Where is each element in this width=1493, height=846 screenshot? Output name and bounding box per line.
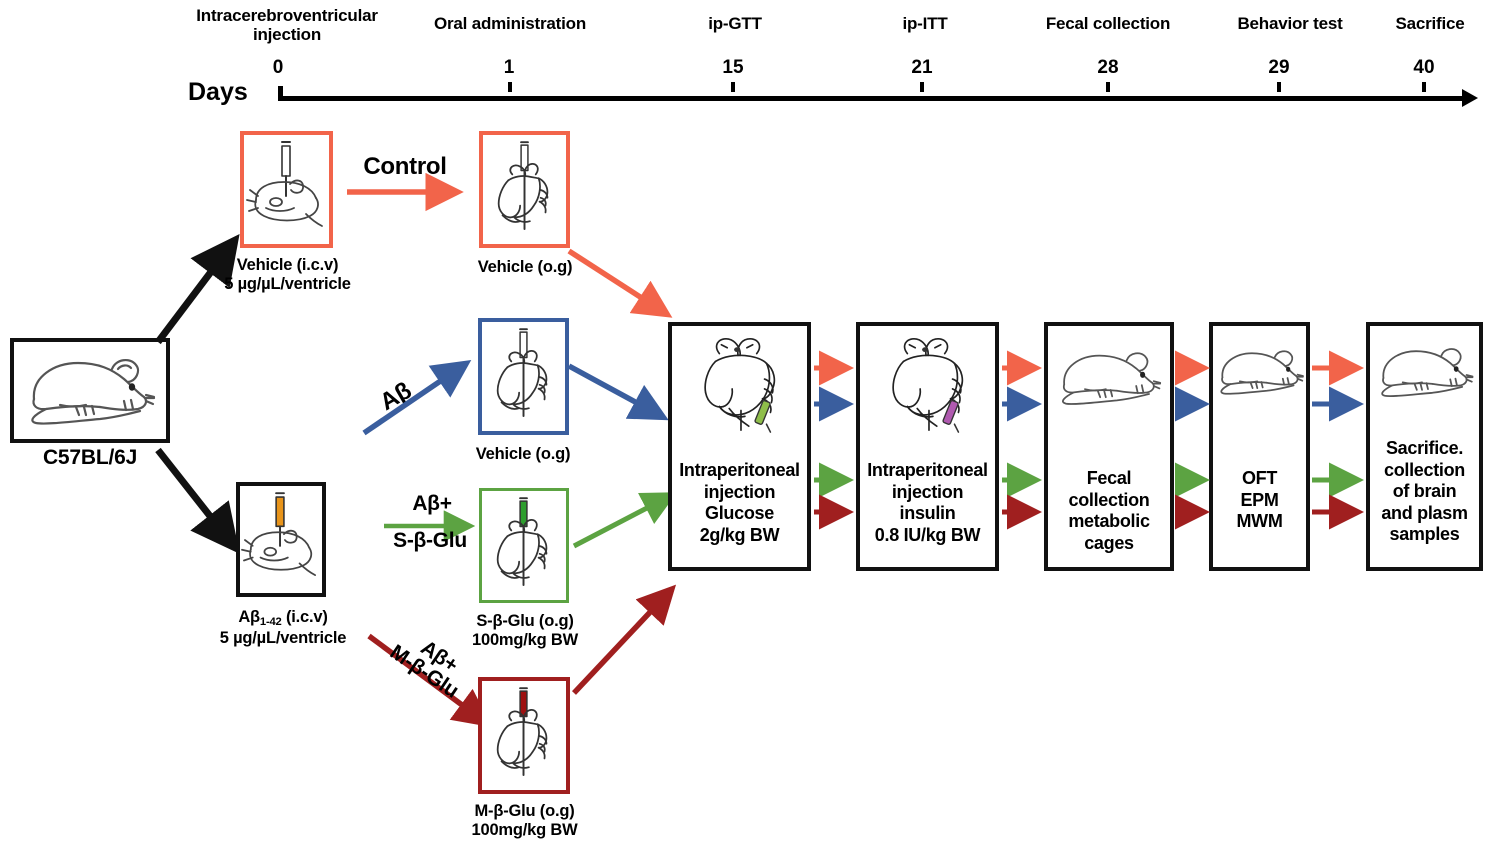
procedure-line: of brain [1370, 481, 1479, 503]
timeline-tick-4 [1106, 82, 1110, 92]
timeline: Intracerebroventricular injection Oral a… [0, 0, 1493, 120]
og-m-beta-glu-caption-line2: 100mg/kg BW [472, 821, 578, 839]
timeline-tick-1 [508, 82, 512, 92]
arrow-control-to-procedures [565, 245, 680, 325]
procedure-line: collection [1048, 490, 1170, 512]
icv-abeta-caption-main: Aβ1-42 (i.c.v) [238, 608, 327, 626]
procedure-line: metabolic [1048, 511, 1170, 533]
connector-arrows-gtt-to-itt [812, 360, 858, 560]
og-m-beta-glu-caption-line1: M-β-Glu (o.g) [474, 802, 574, 820]
arrow-abeta-to-procedures [565, 360, 675, 430]
procedure-box-ip-gtt: Intraperitoneal injection Glucose 2g/kg … [668, 322, 811, 571]
source-mouse-box [10, 338, 170, 443]
procedure-line: collection [1370, 460, 1479, 482]
procedure-line: cages [1048, 533, 1170, 555]
arrow-m-beta-glu-to-procedures [570, 585, 685, 700]
arrow-control [345, 180, 470, 204]
procedure-line: MWM [1213, 511, 1306, 533]
icv-vehicle-box [240, 131, 333, 248]
connector-arrows-itt-to-fecal [1000, 360, 1046, 560]
mouse-icon [1373, 340, 1477, 404]
timeline-day-5: 29 [1259, 57, 1299, 79]
timeline-tick-5 [1277, 82, 1281, 92]
timeline-tick-6 [1422, 82, 1426, 92]
timeline-event-label-1: Oral administration [400, 14, 620, 33]
timeline-tick-3 [920, 82, 924, 92]
timeline-day-0: 0 [258, 57, 298, 79]
procedure-text-ip-gtt: Intraperitoneal injection Glucose 2g/kg … [672, 460, 807, 546]
timeline-event-label-6: Sacrifice [1370, 14, 1490, 33]
timeline-event-label-2: ip-GTT [660, 14, 810, 33]
s-beta-glu-arrow-label-top: Aβ+ [388, 492, 476, 515]
control-arrow-label: Control [345, 155, 465, 179]
procedure-text-fecal-collection: Fecal collection metabolic cages [1048, 468, 1170, 554]
og-m-beta-glu-caption: M-β-Glu (o.g) 100mg/kg BW [452, 802, 597, 840]
procedure-line: injection [672, 482, 807, 504]
connector-arrows-fecal-to-behavior [1174, 360, 1212, 560]
procedure-line: EPM [1213, 490, 1306, 512]
timeline-event-label-4: Fecal collection [1008, 14, 1208, 33]
source-mouse-label: C57BL/6J [10, 448, 170, 467]
timeline-day-6: 40 [1404, 57, 1444, 79]
arrow-abeta [360, 355, 480, 440]
procedure-line: 2g/kg BW [672, 525, 807, 547]
og-vehicle-control-box [479, 131, 570, 248]
procedure-text-ip-itt: Intraperitoneal injection insulin 0.8 IU… [860, 460, 995, 546]
procedure-line: Glucose [672, 503, 807, 525]
procedure-line: and plasm [1370, 503, 1479, 525]
connector-arrows-behavior-to-sacrifice [1310, 360, 1368, 560]
timeline-tick-2 [731, 82, 735, 92]
timeline-axis-line [278, 96, 1464, 101]
icv-vehicle-caption: Vehicle (i.c.v) 5 µg/µL/ventricle [200, 256, 375, 294]
procedure-line: Fecal [1048, 468, 1170, 490]
timeline-event-label-0: Intracerebroventricular injection [172, 6, 402, 44]
icv-abeta-caption-line2: 5 µg/µL/ventricle [220, 629, 347, 647]
mouse-icon [1053, 342, 1165, 414]
timeline-event-label-3: ip-ITT [855, 14, 995, 33]
hand-holding-mouse-gavage-icon [484, 684, 564, 788]
procedure-box-fecal-collection: Fecal collection metabolic cages [1044, 322, 1174, 571]
procedure-line: Intraperitoneal [672, 460, 807, 482]
timeline-day-1: 1 [489, 57, 529, 79]
icv-abeta-subscript: 1-42 [260, 616, 282, 628]
procedure-line: injection [860, 482, 995, 504]
mouse-icon [1213, 342, 1307, 402]
procedure-text-behavior-test: OFT EPM MWM [1213, 468, 1306, 533]
og-vehicle-abeta-caption: Vehicle (o.g) [462, 445, 584, 464]
hand-holding-mouse-gavage-icon [484, 495, 564, 597]
hand-holding-mouse-gavage-icon [485, 138, 565, 242]
timeline-day-4: 28 [1088, 57, 1128, 79]
figure-canvas: Intracerebroventricular injection Oral a… [0, 0, 1493, 846]
procedure-line: Sacrifice. [1370, 438, 1479, 460]
og-vehicle-abeta-box [478, 318, 569, 435]
procedure-box-sacrifice: Sacrifice. collection of brain and plasm… [1366, 322, 1483, 571]
procedure-line: 0.8 IU/kg BW [860, 525, 995, 547]
timeline-axis-arrowhead [1462, 89, 1478, 107]
og-s-beta-glu-caption-line1: S-β-Glu (o.g) [476, 612, 573, 630]
procedure-line: Intraperitoneal [860, 460, 995, 482]
mouse-icon [20, 349, 160, 433]
timeline-day-2: 15 [713, 57, 753, 79]
procedure-line: samples [1370, 524, 1479, 546]
og-s-beta-glu-box [479, 488, 569, 603]
og-m-beta-glu-box [478, 677, 570, 794]
s-beta-glu-arrow-label-bottom: S-β-Glu [380, 529, 480, 552]
timeline-day-3: 21 [902, 57, 942, 79]
procedure-line: OFT [1213, 468, 1306, 490]
procedure-box-behavior-test: OFT EPM MWM [1209, 322, 1310, 571]
mouse-head-injection-icon [241, 489, 321, 591]
timeline-event-label-5: Behavior test [1200, 14, 1380, 33]
icv-abeta-caption: Aβ1-42 (i.c.v) 5 µg/µL/ventricle [193, 608, 373, 648]
procedure-text-sacrifice: Sacrifice. collection of brain and plasm… [1370, 438, 1479, 546]
hand-holding-mouse-injection-icon [686, 332, 794, 436]
hand-holding-mouse-injection-icon [874, 332, 982, 436]
hand-holding-mouse-gavage-icon [484, 325, 564, 429]
icv-abeta-box [236, 482, 326, 597]
procedure-line: insulin [860, 503, 995, 525]
mouse-head-injection-icon [246, 138, 328, 242]
timeline-axis-label: Days [188, 78, 248, 107]
procedure-box-ip-itt: Intraperitoneal injection insulin 0.8 IU… [856, 322, 999, 571]
